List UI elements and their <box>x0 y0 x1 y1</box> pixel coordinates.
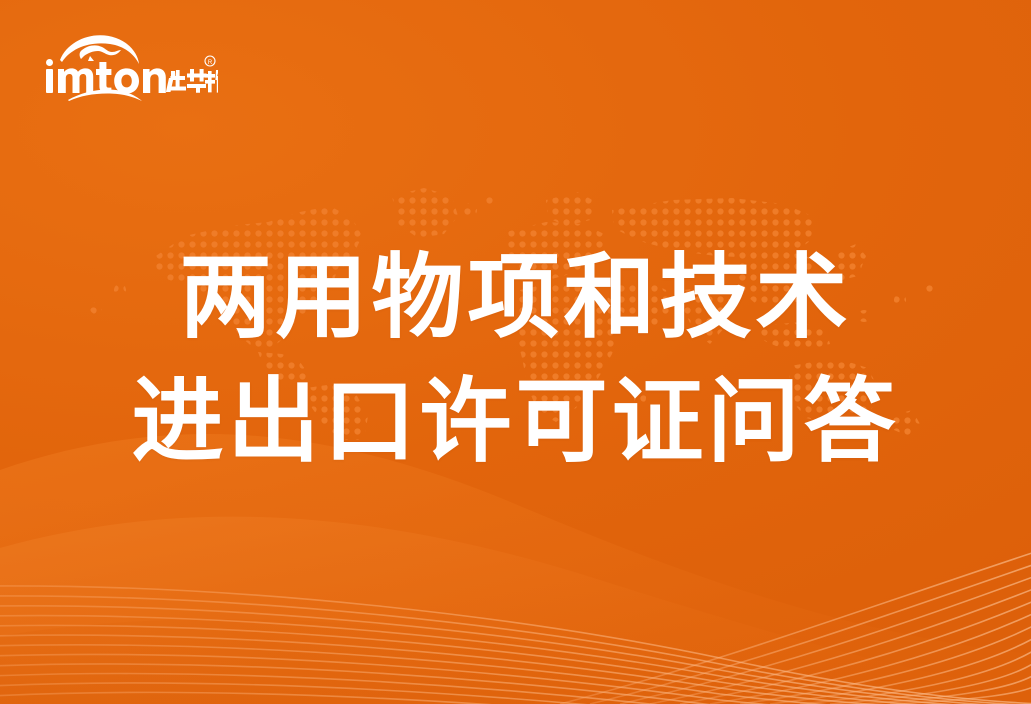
title-line-1: 两用物项和技术 <box>0 236 1031 360</box>
wordmark <box>46 59 166 94</box>
banner-canvas: R 两用物项和技术 进出口许可证问答 <box>0 0 1031 704</box>
eagle-icon <box>80 45 121 59</box>
title-line-2: 进出口许可证问答 <box>0 360 1031 484</box>
svg-text:R: R <box>208 60 213 66</box>
brand-logo[interactable]: R <box>38 26 218 106</box>
page-title: 两用物项和技术 进出口许可证问答 <box>0 236 1031 484</box>
chinese-name-glyphs <box>166 69 218 93</box>
registered-mark-icon: R <box>205 56 215 66</box>
